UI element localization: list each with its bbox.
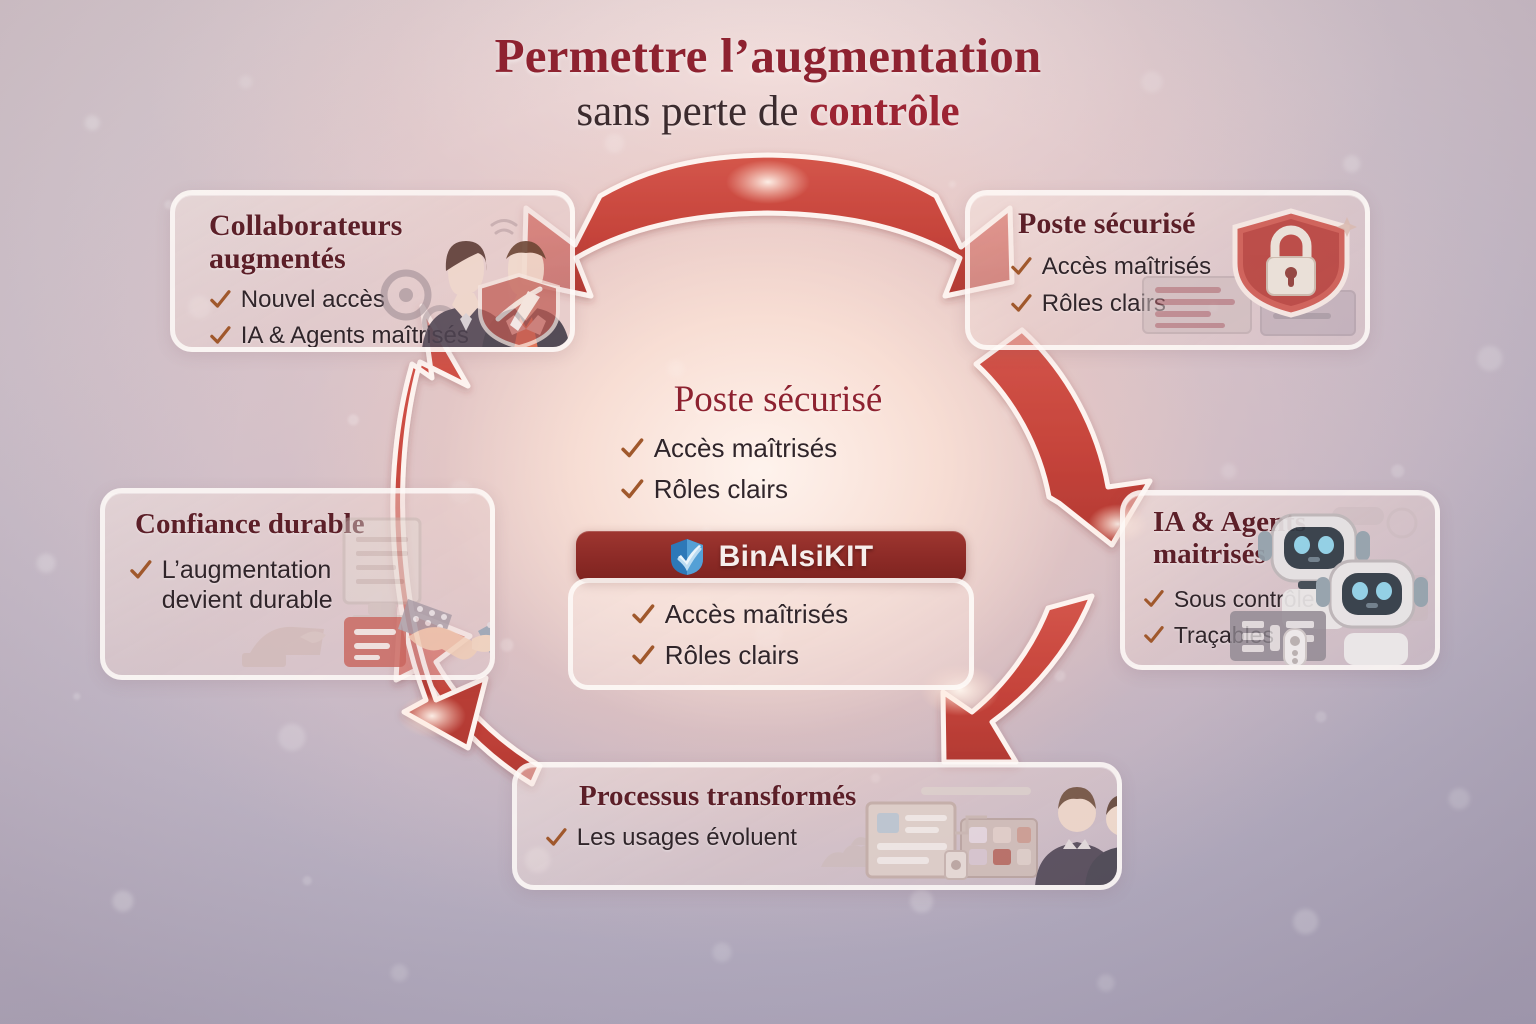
bullet-item: Sous contrôle <box>1143 585 1435 613</box>
card-title: Processus transformés <box>517 767 1117 813</box>
bullet-item: Rôles clairs <box>631 640 969 672</box>
arrow-sparkle-left <box>398 694 466 738</box>
bullet-text: Sous contrôle <box>1174 585 1315 613</box>
bullet-item: IA & Agents maîtrisés <box>209 321 570 350</box>
card-bullet-list: Les usages évoluent <box>517 813 1117 852</box>
card-title-line-1: Collaborateurs <box>209 209 570 242</box>
card-title-line-1: IA & Agents <box>1153 507 1435 539</box>
center-bullet-list: Accès maîtrisés Rôles clairs <box>568 433 988 505</box>
check-icon <box>545 826 568 849</box>
center-card-bullet-list: Accès maîtrisés Rôles clairs <box>573 583 969 671</box>
card-title-line-2: augmentés <box>209 242 570 275</box>
card-bullet-list: L’augmentationdevient durable <box>105 541 490 616</box>
bullet-item: Accès maîtrisés <box>620 433 988 465</box>
bullet-item: Accès maîtrisés <box>631 599 969 631</box>
center-summary: Poste sécurisé Accès maîtrisés Rôles cla… <box>568 378 988 514</box>
bullet-item: L’augmentationdevient durable <box>129 555 490 616</box>
card-title: Poste sécurisé <box>970 195 1365 240</box>
bullet-item: Nouvel accès <box>209 285 570 314</box>
check-icon <box>1010 255 1033 278</box>
check-icon <box>209 288 232 311</box>
infographic-canvas: Permettre l’augmentation sans perte de c… <box>0 0 1536 1024</box>
card-bullet-list: Nouvel accès IA & Agents maîtrisés <box>175 275 570 351</box>
card-title: IA & Agents maitrisés <box>1125 495 1435 571</box>
card-confiance-durable[interactable]: Confiance durable L’augmentationdevient … <box>100 488 495 680</box>
bullet-text: Accès maîtrisés <box>665 599 849 631</box>
card-bullet-list: Accès maîtrisés Rôles clairs <box>970 240 1365 319</box>
bullet-text: IA & Agents maîtrisés <box>241 321 469 350</box>
bullet-text: Rôles clairs <box>665 640 799 672</box>
bullet-text: Traçables <box>1174 621 1274 649</box>
bullet-item: Traçables <box>1143 621 1435 649</box>
blue-shield-check-icon <box>669 537 705 577</box>
center-card[interactable]: Accès maîtrisés Rôles clairs <box>568 578 974 690</box>
check-icon <box>631 643 656 668</box>
brand-name: BinAlsiKIT <box>719 540 874 574</box>
card-processus-transformes[interactable]: Processus transformés Les usages évoluen… <box>512 762 1122 890</box>
check-icon <box>209 324 232 347</box>
bullet-item: Rôles clairs <box>620 474 988 506</box>
brand-badge[interactable]: BinAlsiKIT <box>576 531 966 583</box>
bullet-text: Rôles clairs <box>1042 289 1166 318</box>
card-bullet-list: Sous contrôle Traçables <box>1125 571 1435 649</box>
bullet-text: L’augmentationdevient durable <box>162 555 333 616</box>
center-title: Poste sécurisé <box>568 378 988 421</box>
bullet-item: Rôles clairs <box>1010 289 1365 318</box>
bullet-text-line-2: devient durable <box>162 586 333 614</box>
bullet-item: Accès maîtrisés <box>1010 252 1365 281</box>
card-title-line-2: maitrisés <box>1153 539 1435 571</box>
bullet-text: Accès maîtrisés <box>654 433 838 465</box>
check-icon <box>620 477 645 502</box>
check-icon <box>1143 588 1165 610</box>
check-icon <box>631 602 656 627</box>
check-icon <box>1010 292 1033 315</box>
card-collaborateurs-augmentes[interactable]: Collaborateurs augmentés Nouvel accès IA… <box>170 190 575 352</box>
card-ia-agents-maitrises[interactable]: IA & Agents maitrisés Sous contrôle Traç… <box>1120 490 1440 670</box>
bullet-text: Nouvel accès <box>241 285 385 314</box>
card-title: Confiance durable <box>105 493 490 541</box>
check-icon <box>620 436 645 461</box>
card-title: Collaborateurs augmentés <box>175 195 570 275</box>
bullet-text: Rôles clairs <box>654 474 788 506</box>
bullet-text: Les usages évoluent <box>577 823 797 852</box>
check-icon <box>1143 624 1165 646</box>
bullet-text: Accès maîtrisés <box>1042 252 1211 281</box>
check-icon <box>129 558 153 582</box>
card-poste-securise[interactable]: Poste sécurisé Accès maîtrisés Rôles cla… <box>965 190 1370 350</box>
bullet-text-line-1: L’augmentation <box>162 556 332 584</box>
arrow-sparkle-top <box>726 160 810 204</box>
bullet-item: Les usages évoluent <box>545 823 1117 852</box>
